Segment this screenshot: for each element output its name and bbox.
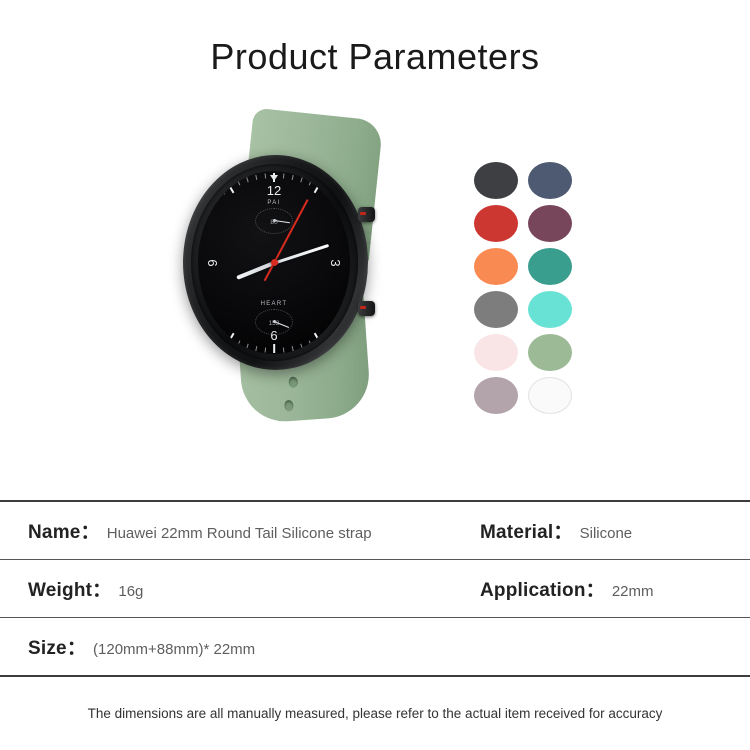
color-swatch-charcoal-black[interactable] [474, 162, 518, 199]
spec-label-name: Name： [28, 517, 100, 544]
spec-label-weight: Weight： [28, 575, 111, 602]
spec-value-name: Huawei 22mm Round Tail Silicone strap [107, 525, 372, 542]
spec-cell-application: Application： 22mm [480, 575, 654, 602]
product-image-area: 12 3 6 9 PAI 80 HEART 152 [0, 100, 750, 490]
page-title: Product Parameters [0, 36, 750, 78]
spec-value-weight: 16g [118, 583, 143, 600]
heart-subdial-pivot [273, 320, 276, 323]
color-swatch-mint-aqua[interactable] [528, 291, 572, 328]
hands-pivot [271, 259, 278, 266]
spec-table: Name： Huawei 22mm Round Tail Silicone st… [0, 500, 750, 677]
pai-subdial-label: PAI [244, 200, 304, 206]
color-swatch-gray[interactable] [474, 291, 518, 328]
watch-dial: 12 3 6 9 PAI 80 HEART 152 [198, 171, 350, 354]
spec-row-size: Size： (120mm+88mm)* 22mm [0, 618, 750, 675]
hour-numeral-9: 9 [205, 259, 220, 266]
color-swatch-mauve[interactable] [474, 377, 518, 414]
color-swatch-off-white[interactable] [528, 377, 572, 414]
hour-numeral-12: 12 [267, 183, 281, 198]
color-swatch-slate-navy[interactable] [528, 162, 572, 199]
spec-label-material: Material： [480, 517, 573, 544]
watch-crown-lower [358, 301, 375, 316]
color-swatch-pale-pink[interactable] [474, 334, 518, 371]
pai-subdial-pivot [273, 219, 276, 222]
spec-label-size: Size： [28, 633, 86, 660]
spec-cell-name: Name： Huawei 22mm Round Tail Silicone st… [28, 517, 480, 544]
color-swatch-teal[interactable] [528, 248, 572, 285]
heart-subdial-label: HEART [244, 301, 304, 307]
measurement-disclaimer: The dimensions are all manually measured… [0, 706, 750, 721]
spec-divider-bottom [0, 675, 750, 677]
color-swatch-orange[interactable] [474, 248, 518, 285]
spec-row-weight: Weight： 16g Application： 22mm [0, 560, 750, 617]
hour-numeral-3: 3 [328, 259, 343, 266]
spec-cell-material: Material： Silicone [480, 517, 632, 544]
spec-value-size: (120mm+88mm)* 22mm [93, 641, 255, 658]
spec-cell-size: Size： (120mm+88mm)* 22mm [28, 633, 480, 660]
watch-crown-upper [358, 207, 375, 222]
product-parameters-page: Product Parameters 12 3 6 9 [0, 0, 750, 750]
color-swatch-sage-green[interactable] [528, 334, 572, 371]
color-swatch-grid[interactable] [474, 162, 572, 414]
heart-subdial: HEART 152 [244, 301, 304, 327]
color-swatch-plum[interactable] [528, 205, 572, 242]
spec-value-application: 22mm [612, 583, 654, 600]
spec-row-name: Name： Huawei 22mm Round Tail Silicone st… [0, 502, 750, 559]
smartwatch: 12 3 6 9 PAI 80 HEART 152 [183, 155, 368, 370]
twelve-oclock-marker [270, 175, 278, 181]
spec-cell-weight: Weight： 16g [28, 575, 480, 602]
spec-label-application: Application： [480, 575, 605, 602]
color-swatch-red[interactable] [474, 205, 518, 242]
spec-value-material: Silicone [580, 525, 633, 542]
